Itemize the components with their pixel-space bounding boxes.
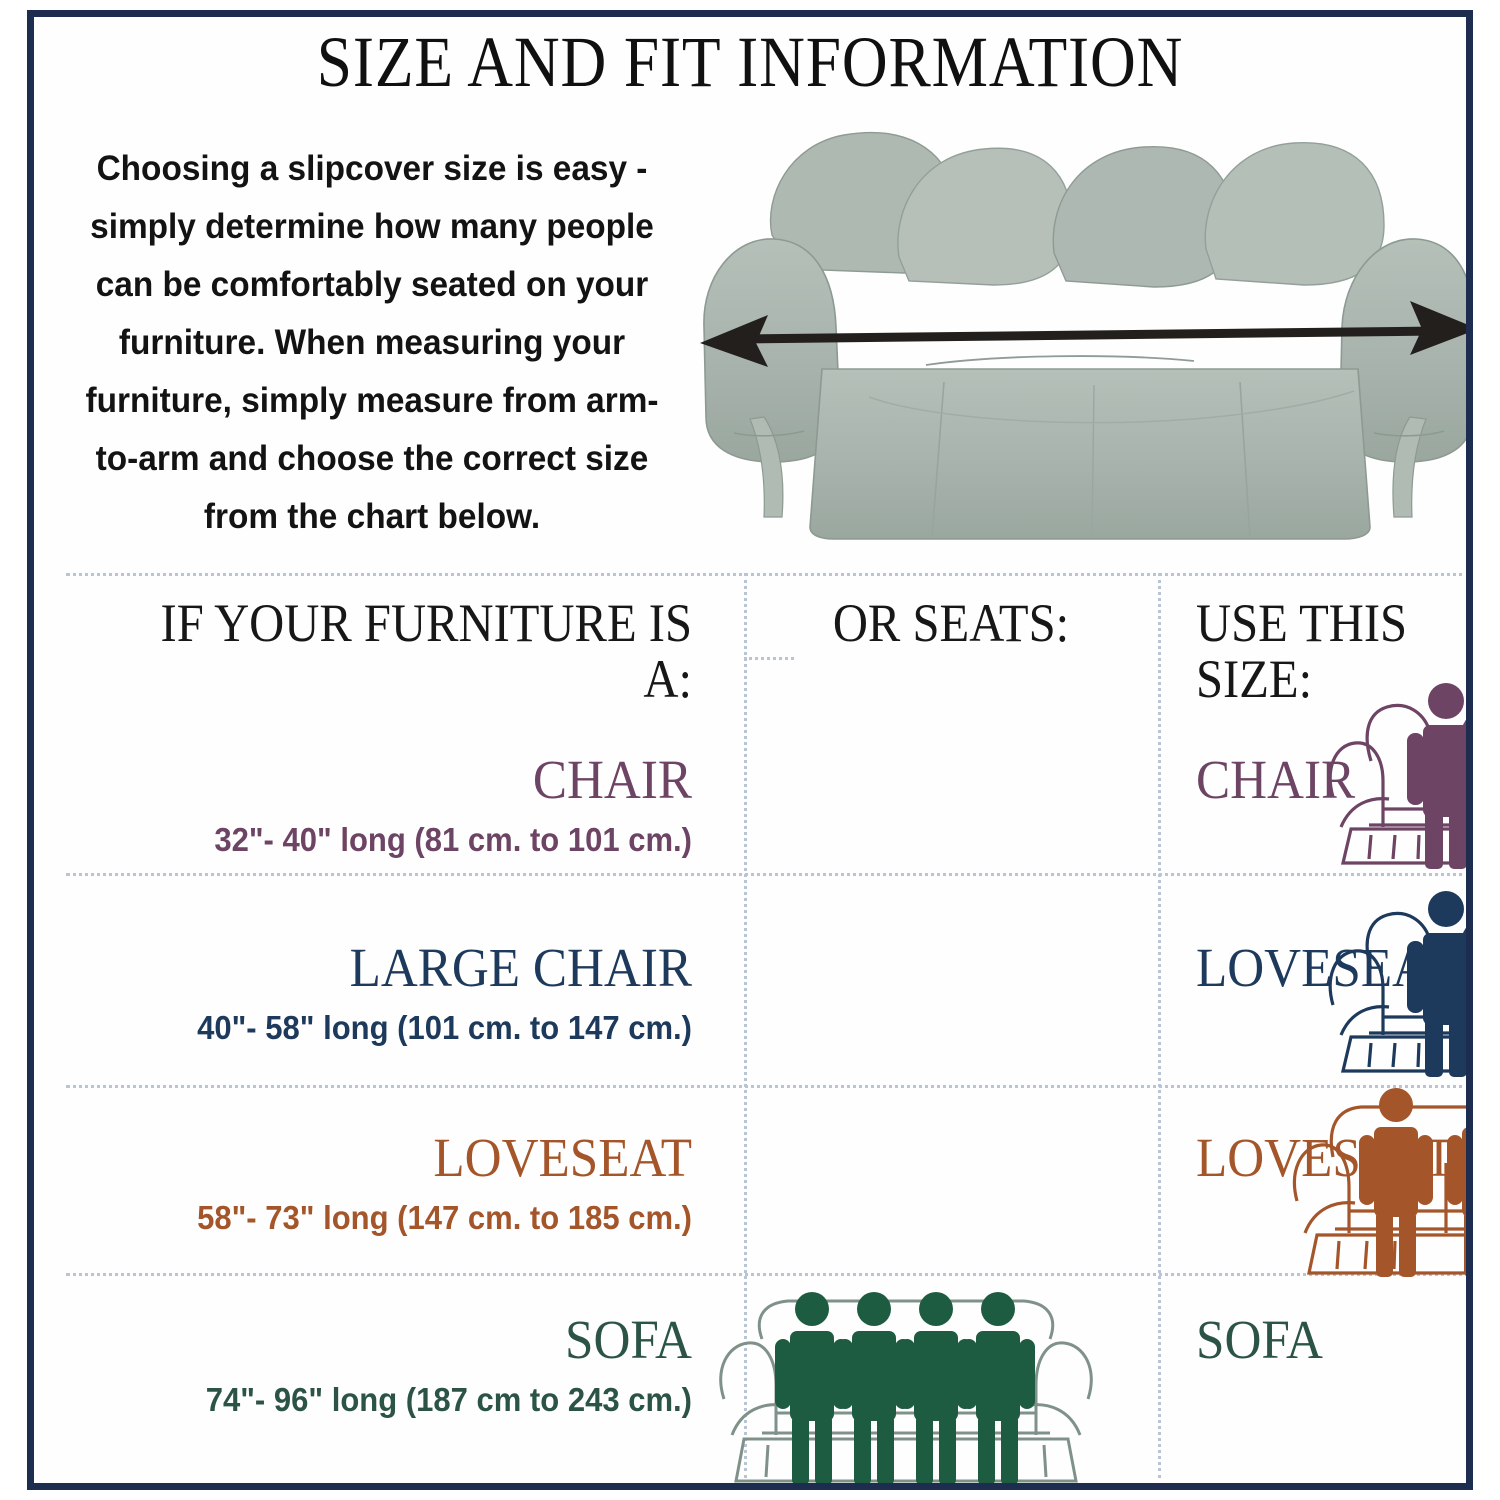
header-seats: OR SEATS: — [744, 595, 1158, 651]
row-sofa-furniture: SOFA 74"- 96" long (187 cm to 243 cm.) — [66, 1311, 714, 1419]
row-sofa-furniture-label: SOFA — [110, 1311, 692, 1369]
row-chair-size-label: CHAIR — [1196, 751, 1449, 809]
row-chair-size: CHAIR — [1168, 751, 1466, 809]
row-loveseat-size-label: LOVESEAT — [1196, 1129, 1449, 1187]
row-large-chair-size-label: LOVESEAT — [1196, 939, 1449, 997]
row-loveseat-dimensions: 58"- 73" long (147 cm. to 185 cm.) — [104, 1199, 692, 1237]
row-loveseat-furniture-label: LOVESEAT — [110, 1129, 692, 1187]
navy-border-frame: SIZE AND FIT INFORMATION Choosing a slip… — [27, 10, 1473, 1490]
intro-paragraph: Choosing a slipcover size is easy - simp… — [71, 139, 673, 545]
divider-top — [66, 573, 1466, 576]
row-sofa-size-label: SOFA — [1196, 1311, 1449, 1369]
header-furniture: IF YOUR FURNITURE IS A: — [66, 595, 714, 707]
person-figure — [961, 1292, 1035, 1483]
infographic-content: SIZE AND FIT INFORMATION Choosing a slip… — [34, 17, 1466, 1483]
row-sofa-size: SOFA — [1168, 1311, 1466, 1369]
divider-header-seats — [744, 657, 794, 660]
infographic-page: SIZE AND FIT INFORMATION Choosing a slip… — [0, 0, 1500, 1500]
slipcovered-sofa-photo — [694, 117, 1466, 547]
header-furniture-label: IF YOUR FURNITURE IS A: — [129, 595, 692, 707]
sofa-four-person-icon — [706, 1287, 1106, 1483]
row-large-chair-size: LOVESEAT — [1168, 939, 1466, 997]
page-title: SIZE AND FIT INFORMATION — [120, 24, 1380, 100]
row-chair-furniture-label: CHAIR — [110, 751, 692, 809]
row-loveseat-size: LOVESEAT — [1168, 1129, 1466, 1187]
row-loveseat-furniture: LOVESEAT 58"- 73" long (147 cm. to 185 c… — [66, 1129, 714, 1237]
row-sofa-dimensions: 74"- 96" long (187 cm to 243 cm.) — [104, 1381, 692, 1419]
size-chart-table: IF YOUR FURNITURE IS A: OR SEATS: USE TH… — [66, 573, 1466, 1478]
header-seats-label: OR SEATS: — [765, 595, 1138, 651]
divider-row1 — [66, 873, 1466, 876]
row-large-chair-dimensions: 40"- 58" long (101 cm. to 147 cm.) — [104, 1009, 692, 1047]
row-large-chair-furniture: LARGE CHAIR 40"- 58" long (101 cm. to 14… — [66, 939, 714, 1047]
row-chair-dimensions: 32"- 40" long (81 cm. to 101 cm.) — [104, 821, 692, 859]
row-chair-furniture: CHAIR 32"- 40" long (81 cm. to 101 cm.) — [66, 751, 714, 859]
row-large-chair-furniture-label: LARGE CHAIR — [110, 939, 692, 997]
